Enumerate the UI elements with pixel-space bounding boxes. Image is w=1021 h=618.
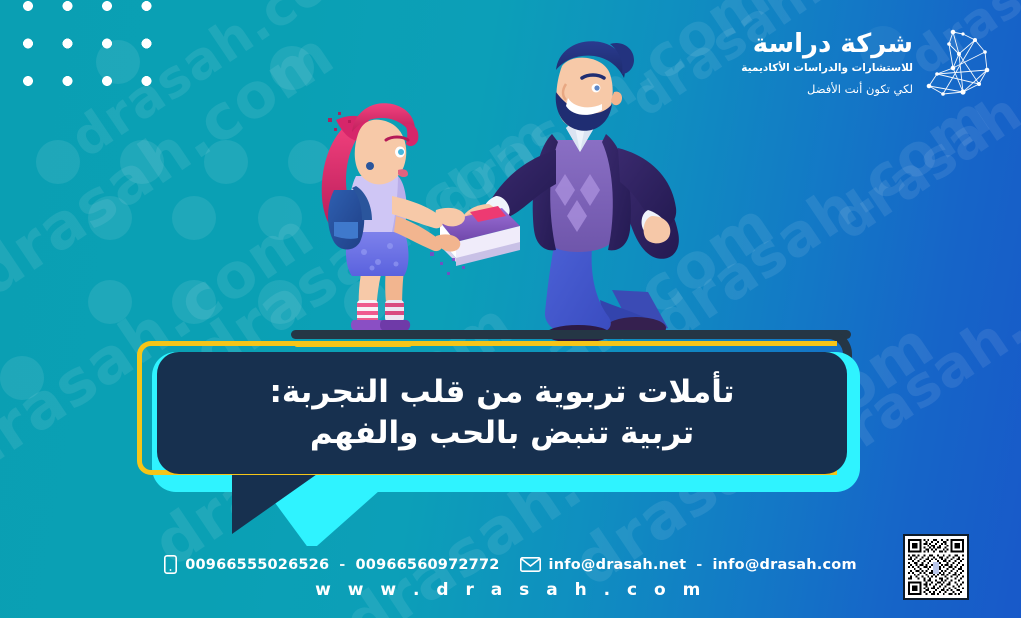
envelope-icon bbox=[520, 557, 541, 572]
headline-line-1: تأملات تربوية من قلب التجربة: bbox=[269, 372, 734, 413]
headline-line-2: تربية تنبض بالحب والفهم bbox=[310, 413, 694, 454]
contact-row: 00966555026526 - 00966560972772 info@dra… bbox=[164, 555, 857, 574]
brand-name: شركة دراسة bbox=[741, 30, 913, 59]
brand-tagline: لكي تكون أنت الأفضل bbox=[741, 81, 913, 98]
email-2[interactable]: info@drasah.com bbox=[712, 557, 856, 573]
phone-number-2[interactable]: 00966560972772 bbox=[355, 557, 499, 573]
headline-bubble: تأملات تربوية من قلب التجربة: تربية تنبض… bbox=[157, 352, 847, 474]
phone-separator: - bbox=[337, 557, 347, 573]
mobile-phone-icon bbox=[164, 555, 177, 574]
poster-canvas: drasah.comdrasah.comdrasah.comdrasah.com… bbox=[0, 0, 1021, 618]
email-separator: - bbox=[694, 557, 704, 573]
network-constellation-icon bbox=[923, 24, 999, 104]
brand-subtitle: للاستشارات والدراسات الأكاديمية bbox=[741, 61, 913, 77]
brand-logo-text: شركة دراسة للاستشارات والدراسات الأكاديم… bbox=[741, 30, 913, 98]
character-man bbox=[461, 41, 679, 343]
bubble-tail bbox=[232, 472, 320, 534]
phone-number-1[interactable]: 00966555026526 bbox=[185, 557, 329, 573]
email-1[interactable]: info@drasah.net bbox=[549, 557, 687, 573]
character-girl bbox=[322, 103, 465, 330]
brand-logo[interactable]: شركة دراسة للاستشارات والدراسات الأكاديم… bbox=[741, 24, 999, 104]
website-url[interactable]: w w w . d r a s a h . c o m bbox=[315, 580, 706, 600]
footer-contact-block: 00966555026526 - 00966560972772 info@dra… bbox=[0, 555, 1021, 600]
ground-bar bbox=[291, 330, 851, 339]
